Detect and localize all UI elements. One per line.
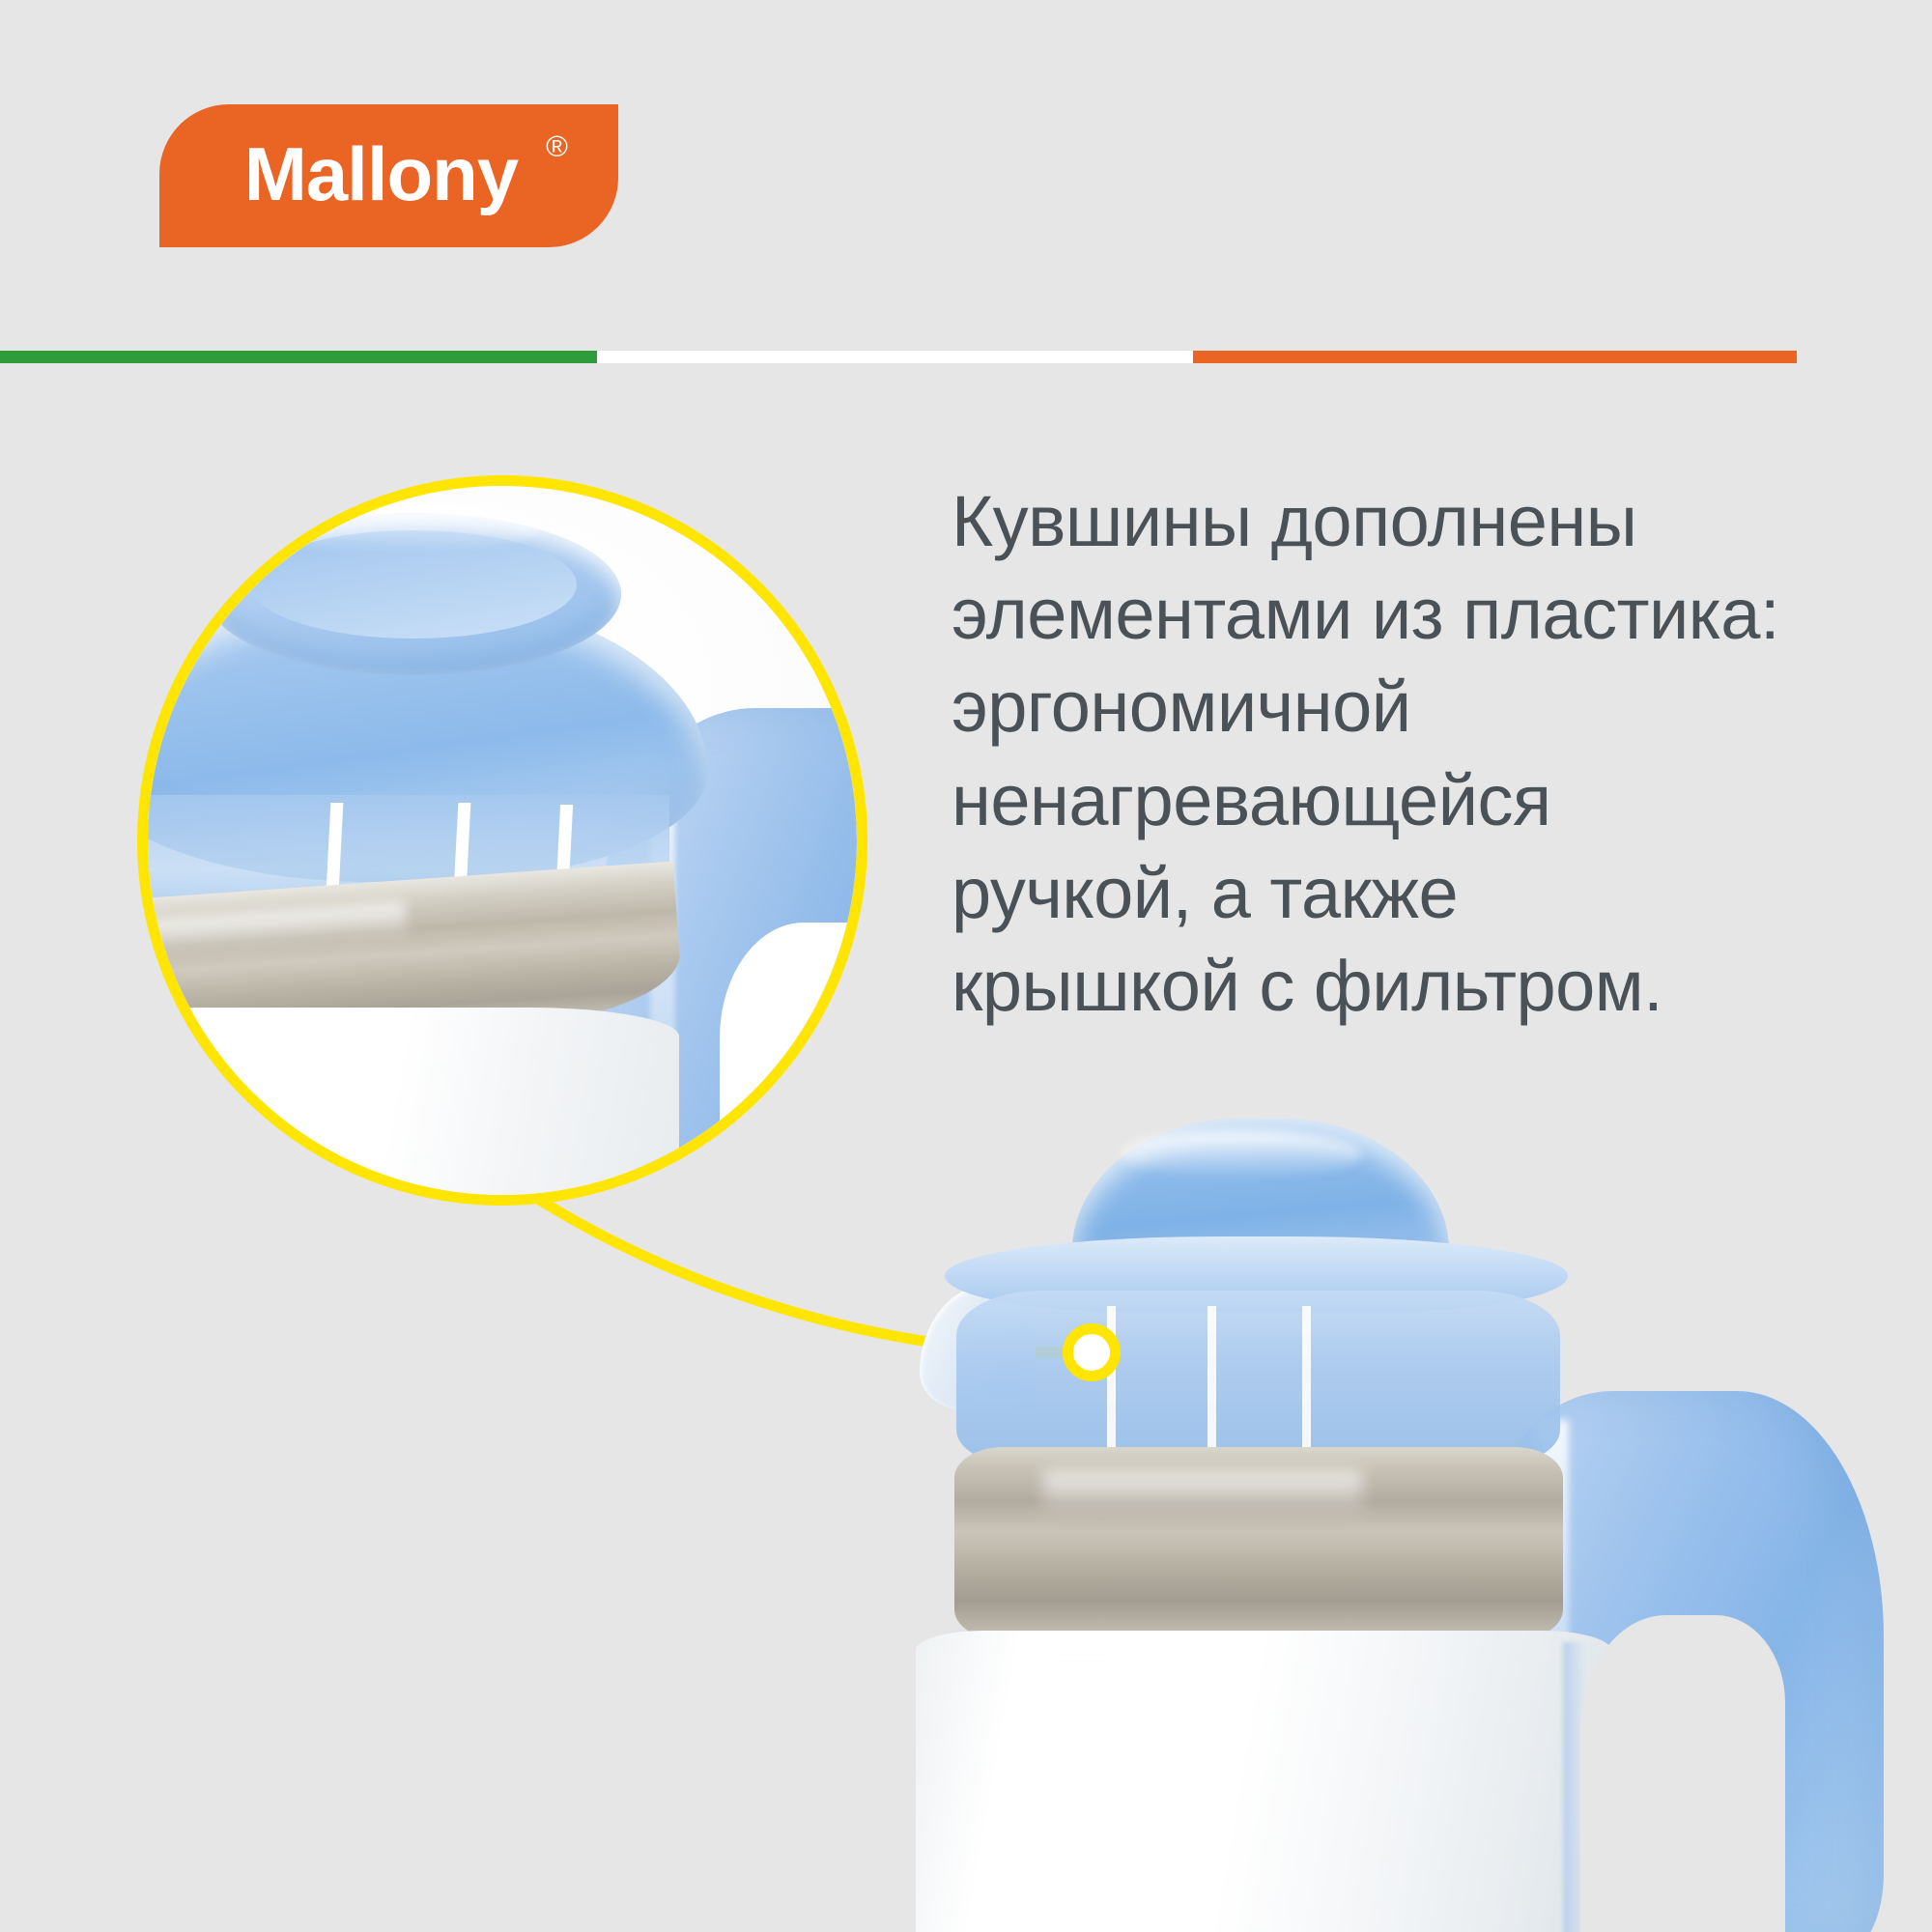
headline-line-4: ненагревающейся <box>952 754 1782 847</box>
brand-wordmark: Mallony <box>244 136 518 212</box>
pitcher-filter-slot <box>1302 1306 1311 1451</box>
zoom-steel-shine <box>148 901 408 960</box>
pitcher-filter-slot <box>1107 1306 1116 1451</box>
headline-line-2: элементами из пластика: <box>952 568 1782 661</box>
pitcher-glass-body <box>916 1631 1611 1932</box>
tricolor-divider <box>0 351 1797 363</box>
magnifier-callout-circle <box>137 475 867 1206</box>
divider-segment-orange <box>1193 351 1797 363</box>
brand-logo-badge: Mallony ® <box>159 104 618 247</box>
headline-line-6: крышкой с фильтром. <box>952 940 1782 1033</box>
pitcher-body-highlight <box>1043 1652 1121 1932</box>
zoom-lid-gloss <box>254 501 544 552</box>
pitcher-lid-gloss <box>1121 1130 1362 1179</box>
headline-line-1: Кувшины дополнены <box>952 475 1782 568</box>
zoom-glass-body <box>148 1008 679 1195</box>
zoom-handle-hole <box>720 923 857 1195</box>
promo-canvas: Mallony ® Кувшины дополнены элементами и… <box>0 0 1932 1932</box>
pitcher-filter-slot <box>1207 1306 1216 1451</box>
callout-anchor-dot <box>1063 1323 1121 1381</box>
headline-text: Кувшины дополнены элементами из пластика… <box>952 475 1782 1033</box>
registered-trademark-icon: ® <box>546 131 568 161</box>
headline-line-3: эргономичной <box>952 661 1782 753</box>
divider-segment-white <box>597 351 1193 363</box>
magnifier-image <box>148 486 857 1195</box>
pitcher-steel-shine <box>1043 1470 1362 1517</box>
divider-segment-green <box>0 351 597 363</box>
pitcher-collar <box>956 1291 1560 1464</box>
product-pitcher <box>898 1101 1874 1932</box>
pitcher-handle-hole <box>1580 1615 1785 1932</box>
headline-line-5: ручкой, а также <box>952 847 1782 940</box>
